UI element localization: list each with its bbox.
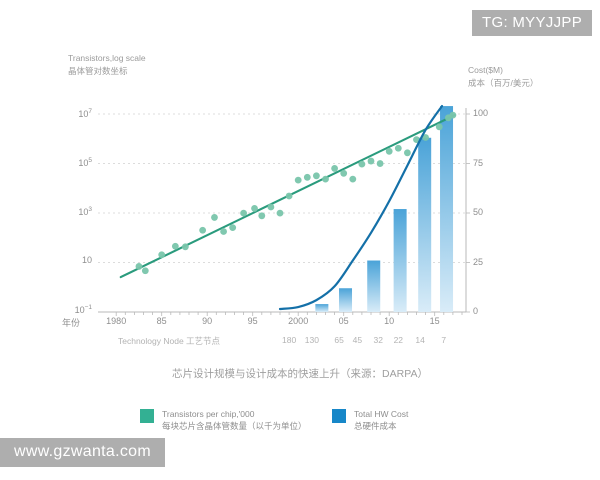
- legend-item-total-hw-cost: Total HW Cost 总硬件成本: [332, 408, 408, 432]
- legend-label-transistors-zh: 每块芯片含晶体管数量（以千为单位）: [162, 420, 307, 432]
- transistor-data-point: [450, 112, 457, 119]
- transistor-data-point: [142, 267, 149, 274]
- transistor-data-point: [240, 210, 247, 217]
- right-axis-title-zh: 成本（百万/美元）: [468, 77, 538, 90]
- legend-label-transistors: Transistors per chip,'000 每块芯片含晶体管数量（以千为…: [162, 408, 307, 432]
- technology-node-axis-label: Technology Node 工艺节点: [118, 335, 220, 347]
- transistor-data-point: [436, 123, 443, 130]
- transistor-data-point: [136, 263, 143, 270]
- y-axis-right-tick-4: 100: [473, 108, 503, 118]
- right-axis-title: Cost($M) 成本（百万/美元）: [468, 64, 538, 90]
- legend-label-total-hw-cost: Total HW Cost 总硬件成本: [354, 408, 408, 432]
- transistor-data-point: [199, 227, 206, 234]
- transistor-data-point: [404, 149, 411, 156]
- y-axis-left-tick-1: 105: [58, 157, 92, 168]
- transistor-data-point: [268, 204, 275, 211]
- legend-label-transistors-en: Transistors per chip,'000: [162, 408, 307, 420]
- x-axis-tick-3: 95: [233, 316, 273, 326]
- x-axis-tick-4: 2000: [278, 316, 318, 326]
- cost-bar: [394, 209, 407, 312]
- transistor-data-point: [331, 165, 338, 172]
- y-axis-right-tick-0: 0: [473, 306, 503, 316]
- transistor-data-point: [172, 243, 179, 250]
- transistor-data-point: [386, 148, 393, 155]
- transistor-data-point: [295, 177, 302, 184]
- transistor-data-point: [158, 251, 165, 258]
- transistor-data-point: [340, 170, 347, 177]
- y-axis-left-tick-0: 107: [58, 108, 92, 119]
- transistor-data-point: [395, 145, 402, 152]
- y-axis-right-tick-3: 75: [473, 158, 503, 168]
- transistor-data-point: [220, 228, 227, 235]
- left-axis-title: Transistors,log scale 晶体管对数坐标: [68, 52, 146, 78]
- y-axis-right-tick-1: 25: [473, 257, 503, 267]
- x-axis-tick-5: 05: [324, 316, 364, 326]
- transistor-data-point: [359, 161, 366, 168]
- left-axis-title-zh: 晶体管对数坐标: [68, 65, 146, 78]
- transistor-data-point: [368, 158, 375, 165]
- x-axis-word: 年份: [62, 316, 80, 329]
- right-axis-title-en: Cost($M): [468, 64, 538, 77]
- x-axis-tick-1: 85: [142, 316, 182, 326]
- chart-canvas: Transistors,log scale 晶体管对数坐标 Cost($M) 成…: [0, 0, 600, 480]
- watermark-bottom-left: www.gzwanta.com: [0, 438, 165, 467]
- x-axis-tick-6: 10: [369, 316, 409, 326]
- y-axis-left-tick-3: 10: [58, 255, 92, 265]
- cost-bar: [315, 304, 328, 312]
- legend-item-transistors: Transistors per chip,'000 每块芯片含晶体管数量（以千为…: [140, 408, 307, 432]
- left-axis-title-en: Transistors,log scale: [68, 52, 146, 65]
- technology-node-tick-7: 7: [428, 335, 460, 345]
- legend-label-total-hw-cost-en: Total HW Cost: [354, 408, 408, 420]
- x-axis-tick-0: 1980: [96, 316, 136, 326]
- watermark-top-right: TG: MYYJJPP: [472, 10, 592, 36]
- y-axis-left-tick-4: 10−1: [58, 304, 92, 315]
- transistor-data-point: [251, 205, 258, 212]
- transistor-data-point: [211, 214, 218, 221]
- x-axis-tick-7: 15: [415, 316, 455, 326]
- legend-swatch-total-hw-cost: [332, 409, 346, 423]
- transistor-data-point: [322, 176, 329, 183]
- transistor-data-point: [182, 243, 189, 250]
- cost-bar: [367, 261, 380, 312]
- transistor-data-point: [304, 174, 311, 181]
- transistor-data-point: [377, 160, 384, 167]
- chart-caption: 芯片设计规模与设计成本的快速上升（来源：DARPA）: [0, 366, 600, 381]
- cost-bar: [440, 106, 453, 312]
- y-axis-left-tick-2: 103: [58, 206, 92, 217]
- transistor-data-point: [277, 210, 284, 217]
- cost-bar: [418, 138, 431, 312]
- transistor-data-point: [286, 193, 293, 200]
- legend-swatch-transistors: [140, 409, 154, 423]
- cost-bar: [339, 288, 352, 312]
- transistor-data-point: [229, 224, 236, 231]
- x-axis-tick-2: 90: [187, 316, 227, 326]
- transistor-data-point: [258, 212, 265, 219]
- transistor-data-point: [349, 176, 356, 183]
- transistor-data-point: [313, 172, 320, 179]
- y-axis-right-tick-2: 50: [473, 207, 503, 217]
- legend-label-total-hw-cost-zh: 总硬件成本: [354, 420, 408, 432]
